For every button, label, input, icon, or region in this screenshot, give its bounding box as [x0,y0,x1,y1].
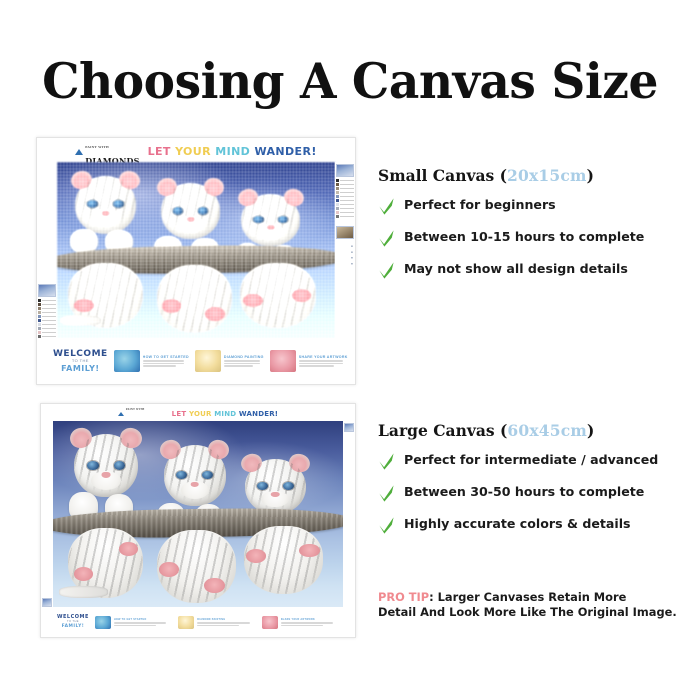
tagline-word-2: YOUR [175,145,211,158]
cub-paw-pad [205,307,225,321]
brand-tagline-small: PAINT WITH [85,145,109,149]
cub-body-2 [157,530,235,603]
legend-row [336,183,354,186]
footer-info-item-3: SHARE YOUR ARTWORK [262,616,339,629]
tagline-word-3: MIND [214,410,236,418]
large-bullet-3: Highly accurate colors & details [378,517,690,535]
info-title: DIAMOND PAINTING [197,618,255,621]
check-icon [378,261,395,280]
info-illustration-icon [95,616,111,629]
legend-row [336,187,354,190]
canvas-footer-small: WELCOME TO THE FAMILY! HOW TO GET STARTE… [37,338,355,384]
footer-info-item-3: SHARE YOUR ARTWORK [270,350,348,372]
pro-tip-line-2: Detail And Look More Like The Original I… [378,605,677,619]
page-title: Choosing A Canvas Size [14,52,686,110]
info-illustration-icon [178,616,194,629]
canvas-tagline: LET YOUR MIND WANDER! [148,145,317,158]
legend-row [38,319,56,322]
cub-head [245,459,306,514]
diamond-icon [118,412,124,416]
legend-row [336,207,354,210]
legend-thumbnail [336,164,354,177]
legend-rows [38,299,56,338]
canvas-brand-header: PAINT WITH DIAMONDS LET YOUR MIND WANDER… [41,404,355,421]
info-title: HOW TO GET STARTED [143,355,189,359]
cub-eye-left [87,461,99,470]
cub-tail [59,586,108,597]
cub-paw-pad [159,562,179,577]
cub-paw-pad [299,544,319,558]
canvas-brand-header: PAINT WITH DIAMONDS LET YOUR MIND WANDER… [37,138,355,162]
info-illustration-icon [270,350,296,372]
cub-paw-pad [162,299,182,313]
welcome-line-3: FAMILY! [53,364,108,373]
tagline-word-4: WANDER! [239,410,278,418]
cub-head [75,176,137,233]
cub-body-3 [240,263,315,327]
cub-body-3 [244,526,322,594]
legend-row [38,299,56,302]
pro-tip-separator: : [429,590,434,604]
check-icon [378,452,395,471]
bullet-text: Perfect for intermediate / advanced [404,453,658,467]
small-bullet-2: Between 10-15 hours to complete [378,230,690,248]
large-bullet-1: Perfect for intermediate / advanced [378,453,690,471]
artwork-small [57,162,335,340]
cub-nose [267,225,275,230]
info-title: SHARE YOUR ARTWORK [281,618,339,621]
legend-thumbnail [344,423,354,432]
right-color-legend: ■ ■ ■ ■ [335,162,355,340]
footer-info-item-1: HOW TO GET STARTED [95,616,172,629]
large-canvas-section: Large Canvas (60x45cm) Perfect for inter… [378,421,690,549]
legend-row [38,327,56,330]
legend-row [336,215,354,218]
artwork-large [53,421,343,609]
footer-info-item-2: DIAMOND PAINTING [178,616,255,629]
left-color-legend [41,421,53,609]
legend-row [38,311,56,314]
small-canvas-preview: PAINT WITH DIAMONDS LET YOUR MIND WANDER… [36,137,356,385]
tiger-cub-1 [68,176,151,258]
info-illustration-icon [195,350,221,372]
tagline-word-4: WANDER! [254,145,316,158]
large-canvas-dimensions: 60x45cm [507,421,587,440]
cub-eye-right [283,482,294,490]
check-icon [378,484,395,503]
large-canvas-label: Large Canvas [378,421,495,440]
legend-side-note: ■ ■ ■ ■ [336,244,354,266]
pro-tip: PRO TIP: Larger Canvases Retain More Det… [378,590,694,619]
cub-paw-pad [74,567,94,581]
cub-paw-pad [292,289,312,302]
cub-body-2 [157,265,232,333]
legend-thumbnail [42,598,52,607]
footer-info-item-1: HOW TO GET STARTED [114,350,189,372]
legend-row [38,303,56,306]
cub-eye-right [114,461,126,470]
tagline-word-1: LET [148,145,171,158]
brand-tagline-small: PAINT WITH [126,408,145,411]
small-canvas-heading: Small Canvas (20x15cm) [378,166,690,185]
info-title: HOW TO GET STARTED [114,618,172,621]
small-canvas-label: Small Canvas [378,166,494,185]
small-canvas-section: Small Canvas (20x15cm) Perfect for begin… [378,166,690,294]
info-illustration-icon [114,350,140,372]
cub-paw-pad [74,299,94,312]
welcome-block: WELCOME TO THE FAMILY! [57,615,89,629]
check-icon [378,197,395,216]
legend-row [336,191,354,194]
info-title: DIAMOND PAINTING [224,355,264,359]
small-bullet-1: Perfect for beginners [378,198,690,216]
cub-head [74,434,138,497]
bullet-text: Highly accurate colors & details [404,517,631,531]
tagline-word-2: YOUR [189,410,212,418]
cub-eye-left [257,482,268,490]
cub-nose [102,472,111,478]
welcome-block: WELCOME TO THE FAMILY! [53,349,108,373]
cub-head [241,194,300,246]
large-canvas-preview: PAINT WITH DIAMONDS LET YOUR MIND WANDER… [40,403,356,638]
cub-head [164,445,226,506]
cub-eye-left [173,207,184,215]
welcome-line-3: FAMILY! [57,624,89,629]
large-canvas-heading: Large Canvas (60x45cm) [378,421,690,440]
tagline-word-1: LET [172,410,187,418]
cub-head [161,183,221,239]
canvas-footer-large: WELCOME TO THE FAMILY! HOW TO GET STARTE… [41,607,355,637]
cub-paw-pad [119,542,139,556]
bullet-text: May not show all design details [404,262,628,276]
legend-row [336,211,354,214]
legend-thumbnail [38,284,56,297]
canvas-tagline: LET YOUR MIND WANDER! [172,410,279,418]
cub-nose [101,211,110,216]
info-illustration-icon [262,616,278,629]
canvas-body [41,421,355,609]
diamond-icon [75,149,83,155]
pro-tip-label: PRO TIP [378,590,429,604]
footer-info-item-2: DIAMOND PAINTING [195,350,264,372]
legend-row [336,179,354,182]
legend-row [336,199,354,202]
cub-eye-left [253,216,264,223]
cub-paw-pad [243,294,263,307]
bullet-text: Perfect for beginners [404,198,556,212]
legend-row [38,315,56,318]
cub-paw-pad [246,549,266,563]
cub-nose [271,492,280,497]
cub-paw-pad [204,578,224,593]
large-bullet-2: Between 30-50 hours to complete [378,485,690,503]
cub-tail [60,315,102,326]
infographic-page: Choosing A Canvas Size PAINT WITH DIAMON… [0,0,700,700]
check-icon [378,516,395,535]
small-canvas-dimensions: 20x15cm [507,166,587,185]
legend-row [336,195,354,198]
legend-row [336,203,354,206]
pro-tip-line-1: Larger Canvases Retain More [438,590,627,604]
legend-row [38,323,56,326]
canvas-body: ■ ■ ■ ■ [37,162,355,340]
info-title: SHARE YOUR ARTWORK [299,355,348,359]
cub-eye-right [198,207,209,215]
legend-row [38,307,56,310]
bullet-text: Between 30-50 hours to complete [404,485,644,499]
tagline-word-3: MIND [215,145,250,158]
check-icon [378,229,395,248]
bullet-text: Between 10-15 hours to complete [404,230,644,244]
small-bullet-3: May not show all design details [378,262,690,280]
legend-rows [336,179,354,218]
left-color-legend [37,162,57,340]
legend-thumbnail-secondary [336,226,354,239]
right-color-legend [343,421,355,609]
legend-row [38,331,56,334]
